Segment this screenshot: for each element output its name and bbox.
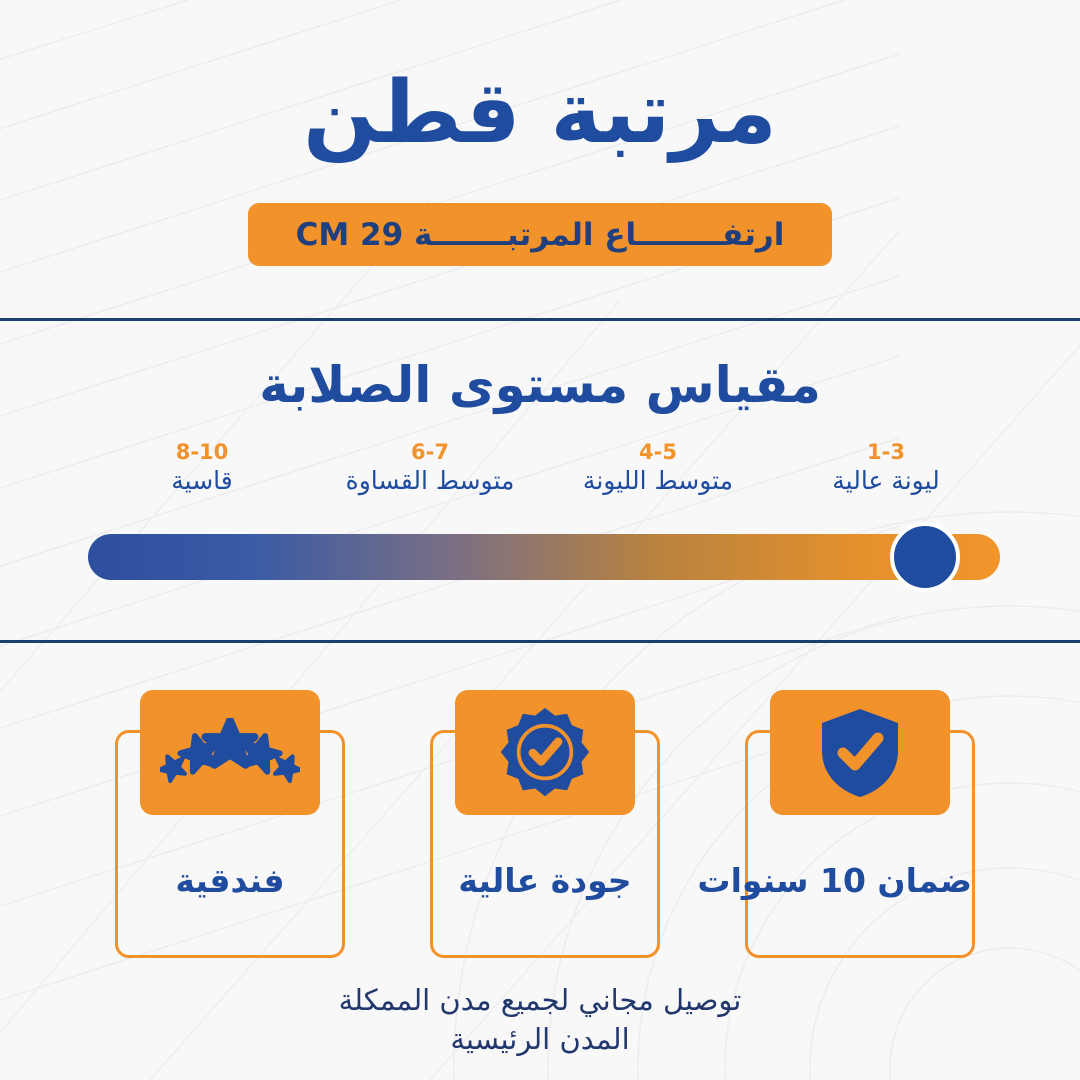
quality-badge-check-icon — [498, 706, 592, 800]
free-delivery-line-2: المدن الرئيسية — [0, 1020, 1080, 1059]
firmness-slider-track[interactable] — [88, 534, 1000, 580]
firmness-level-1: 4-5 متوسط الليونة — [544, 439, 772, 497]
header-section: مرتبة قطن ارتفــــــــاع المرتبـــــــة … — [0, 0, 1080, 318]
firmness-slider[interactable] — [88, 534, 1000, 580]
firmness-level-name: قاسية — [88, 465, 316, 496]
firmness-slider-handle[interactable] — [890, 522, 960, 592]
infographic-canvas: مرتبة قطن ارتفــــــــاع المرتبـــــــة … — [0, 0, 1080, 1080]
firmness-level-range: 8-10 — [88, 439, 316, 465]
shield-check-icon — [818, 707, 902, 799]
feature-card-hotel-grade[interactable]: فندقية — [115, 730, 345, 958]
firmness-level-3: 8-10 قاسية — [88, 439, 316, 497]
firmness-level-0: 1-3 ليونة عالية — [772, 439, 1000, 497]
free-delivery-line-1: توصيل مجاني لجميع مدن الممكلة — [0, 981, 1080, 1020]
feature-card-list: ضمان 10 سنوات جودة عالية — [110, 730, 975, 958]
firmness-level-labels: 1-3 ليونة عالية 4-5 متوسط الليونة 6-7 مت… — [88, 439, 1000, 497]
firmness-scale-title: مقياس مستوى الصلابة — [0, 356, 1080, 414]
firmness-level-2: 6-7 متوسط القساوة — [316, 439, 544, 497]
feature-icon-box — [770, 690, 950, 815]
firmness-scale-section: مقياس مستوى الصلابة 1-3 ليونة عالية 4-5 … — [0, 321, 1080, 640]
feature-icon-box — [455, 690, 635, 815]
feature-card-quality[interactable]: جودة عالية — [430, 730, 660, 958]
page-title: مرتبة قطن — [0, 68, 1080, 158]
feature-icon-box — [140, 690, 320, 815]
firmness-level-range: 1-3 — [772, 439, 1000, 465]
features-section: ضمان 10 سنوات جودة عالية — [0, 643, 1080, 1080]
free-delivery-note: توصيل مجاني لجميع مدن الممكلة المدن الرئ… — [0, 981, 1080, 1058]
firmness-level-range: 4-5 — [544, 439, 772, 465]
feature-card-label: ضمان 10 سنوات — [748, 861, 972, 900]
mattress-height-label: ارتفــــــــاع المرتبـــــــة 29 CM — [296, 217, 785, 253]
feature-card-label: فندقية — [118, 861, 342, 900]
firmness-level-range: 6-7 — [316, 439, 544, 465]
firmness-level-name: متوسط القساوة — [316, 465, 544, 496]
mattress-height-badge: ارتفــــــــاع المرتبـــــــة 29 CM — [248, 203, 832, 266]
feature-card-warranty[interactable]: ضمان 10 سنوات — [745, 730, 975, 958]
firmness-level-name: متوسط الليونة — [544, 465, 772, 496]
five-stars-icon — [160, 718, 300, 788]
firmness-level-name: ليونة عالية — [772, 465, 1000, 496]
feature-card-label: جودة عالية — [433, 861, 657, 900]
